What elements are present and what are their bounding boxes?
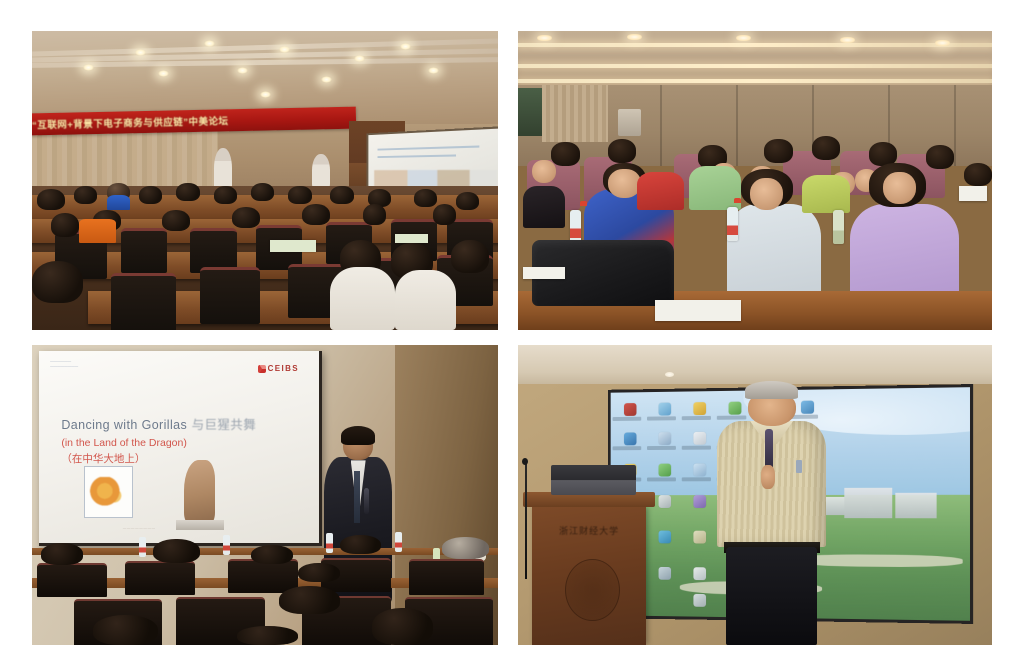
desktop-icon[interactable] (659, 531, 672, 544)
speaker (717, 381, 826, 645)
handout-papers (523, 267, 566, 279)
water-bottle-icon (395, 532, 402, 552)
microphone-stand (525, 459, 527, 579)
microphone-icon (364, 488, 368, 514)
attendee-torso (330, 267, 395, 330)
attendee-face (532, 160, 556, 184)
attendee-head (153, 539, 200, 563)
attendee-head (608, 139, 636, 163)
attendee-head (162, 210, 190, 231)
desktop-icon-label (613, 446, 642, 450)
attendee-head (41, 543, 83, 565)
attendee-head (237, 626, 298, 645)
auditorium-chair (200, 267, 261, 324)
ceibs-logo-text: CEIBS (268, 364, 299, 373)
ceiling-light-icon (260, 91, 271, 98)
slide-subtitle-en: (in the Land of the Dragon) (61, 437, 285, 449)
ceiling-light-icon (665, 372, 674, 377)
slide-footer-note: ———————— (123, 526, 156, 530)
auditorium-chair (121, 228, 168, 273)
speaker-trousers (726, 547, 818, 645)
attendee-torso (523, 186, 566, 228)
forum-banner-text: “互联网+背景下电子商务与供应链”中美论坛 (32, 114, 229, 132)
speaker-badge (796, 460, 803, 473)
laptop[interactable] (551, 465, 636, 495)
desktop-icon-label (647, 477, 676, 481)
water-bottle-icon (570, 210, 581, 244)
photo-lecture-hall-wide: “互联网+背景下电子商务与供应链”中美论坛 (32, 31, 498, 330)
slide-title-en: Dancing with Gorillas (61, 418, 187, 432)
air-conditioner-icon (618, 109, 642, 136)
attendee-face (883, 172, 916, 205)
attendee-head (433, 204, 456, 225)
photo-collage: “互联网+背景下电子商务与供应链”中美论坛 (0, 0, 1024, 671)
water-bottle-icon (223, 535, 230, 555)
attendee-head (93, 615, 158, 645)
attendee-head (414, 189, 437, 207)
presenter-tie (354, 471, 360, 523)
desktop-icon[interactable] (694, 594, 707, 607)
handout-papers (959, 186, 987, 201)
audience-area (32, 537, 498, 645)
water-bottle-icon (139, 537, 146, 557)
attendee-head (298, 563, 340, 582)
dancing-statue-image (184, 460, 215, 523)
handout-papers (655, 300, 740, 321)
desktop-icon-label (613, 417, 642, 421)
desktop-icon[interactable] (694, 402, 707, 415)
wall-panel-seam (736, 85, 738, 166)
attendee-head (372, 608, 433, 645)
desktop-icon[interactable] (659, 464, 672, 477)
desktop-icon[interactable] (625, 432, 637, 445)
ceiling-light-icon (736, 35, 751, 41)
cove-light-strip (518, 64, 992, 68)
attendee-head (551, 142, 579, 166)
attendee-head (139, 186, 162, 204)
attendee-head (442, 537, 489, 559)
ceiling (518, 345, 992, 384)
attendee-head (330, 186, 353, 204)
desktop-icon[interactable] (694, 432, 707, 445)
attendee-head (176, 183, 199, 201)
presenter-hair (341, 426, 375, 445)
water-bottle-icon (727, 207, 738, 241)
attendee-head (251, 545, 293, 564)
ceiling-light-icon (158, 70, 169, 77)
campus-building (896, 492, 937, 518)
desktop-icon[interactable] (659, 567, 672, 580)
wall-panel-seam (660, 85, 662, 166)
ceiling-light-icon (537, 35, 552, 41)
slide-title-cn: 与巨猩共舞 (192, 418, 257, 432)
ceiling-light-icon (627, 34, 642, 40)
attendee-head (869, 142, 897, 166)
photo-keynote-slide: —————————————— CEIBS Dancing with Gorill… (32, 345, 498, 645)
ceiling-light-icon (321, 76, 332, 83)
attendee-head (926, 145, 954, 169)
attendee-torso (802, 175, 849, 214)
china-map-thumbnail (84, 466, 134, 518)
china-map-shape (90, 477, 127, 508)
auditorium-chair (409, 559, 484, 596)
ceiling-light-icon (237, 67, 248, 74)
slide-text-line (378, 145, 480, 150)
attendee-face (750, 178, 783, 211)
attendee-head (288, 186, 311, 204)
ceiling-light-icon (840, 37, 855, 43)
desktop-icon-label (647, 446, 676, 450)
desktop-icon-label (647, 416, 676, 420)
attendee-torso (107, 195, 130, 210)
attendee-head (74, 186, 97, 204)
notebook (270, 240, 317, 252)
ceiling-light-icon (279, 46, 290, 53)
statue-base (176, 520, 224, 530)
attendee-head (964, 163, 992, 187)
ceibs-logo-mark (258, 365, 266, 373)
ceiling-light-icon (400, 43, 411, 50)
attendee-head (51, 213, 79, 237)
desktop-icon-label (682, 477, 711, 481)
auditorium-chair (111, 273, 176, 330)
attendee-head (214, 186, 237, 204)
water-bottle-icon (833, 210, 844, 244)
standing-attendee (312, 154, 331, 190)
desktop-icon[interactable] (625, 403, 637, 416)
cove-light-strip (518, 79, 992, 83)
desktop-icon[interactable] (659, 432, 672, 445)
desktop-icon-label (682, 416, 711, 420)
desktop-icon[interactable] (659, 495, 672, 508)
ceiling-light-icon (135, 49, 146, 56)
bottle-cap-icon (734, 198, 741, 203)
desktop-icon[interactable] (694, 567, 707, 580)
attendee-head (363, 204, 386, 225)
attendee-torso (689, 166, 741, 211)
attendee-torso (395, 270, 456, 330)
photo-speaker-podium: 浙江财经大学 (518, 345, 992, 645)
slide-title-block: Dancing with Gorillas 与巨猩共舞 (in the Land… (61, 414, 285, 466)
attendee-head (232, 207, 260, 228)
campus-building (844, 488, 892, 518)
ceiling-light-icon (354, 55, 365, 62)
slide-corner-note: —————————————— (50, 359, 78, 370)
attendee-head (812, 136, 840, 160)
attendee-torso (637, 172, 684, 211)
ceiling-light-icon (83, 64, 94, 71)
desktop-icon[interactable] (659, 403, 672, 416)
slide-title-line: Dancing with Gorillas 与巨猩共舞 (61, 414, 285, 434)
slide-text-line (378, 154, 456, 158)
attendee-head (456, 192, 479, 210)
desktop-icon-label (682, 445, 711, 449)
water-bottle-icon (326, 533, 333, 553)
photo-audience-international (518, 31, 992, 330)
attendee-head (302, 204, 330, 225)
ceibs-logo: CEIBS (258, 364, 299, 373)
ceiling-light-icon (935, 40, 950, 46)
desktop-icon[interactable] (694, 463, 707, 476)
desktop-icon[interactable] (694, 495, 707, 508)
attendee-head (340, 535, 382, 554)
curtain (542, 85, 608, 142)
desktop-icon[interactable] (694, 531, 707, 544)
ceiling-light-icon (428, 67, 439, 74)
attendee-head (37, 189, 65, 210)
podium-university-name: 浙江财经大学 (537, 524, 641, 537)
speaker-hair (745, 381, 797, 399)
auditorium-chair (37, 563, 107, 597)
cove-light-strip (518, 43, 992, 47)
attendee-head (279, 586, 340, 614)
bottle-cap-icon (580, 201, 587, 206)
speaker-hand (761, 465, 775, 489)
projection-screen: —————————————— CEIBS Dancing with Gorill… (39, 351, 322, 546)
notebook (395, 234, 428, 243)
university-seal-icon (565, 559, 619, 621)
wall-panel-seam (954, 85, 956, 166)
attendee-head (764, 139, 792, 163)
slide-subtitle-cn: （在中华大地上） (61, 451, 285, 466)
attendee-head (251, 183, 274, 201)
attendee-head (451, 240, 488, 273)
attendee-head (32, 261, 83, 303)
auditorium-chair (125, 561, 195, 595)
attendee-torso (79, 219, 116, 243)
microphone-head-icon (522, 458, 528, 465)
